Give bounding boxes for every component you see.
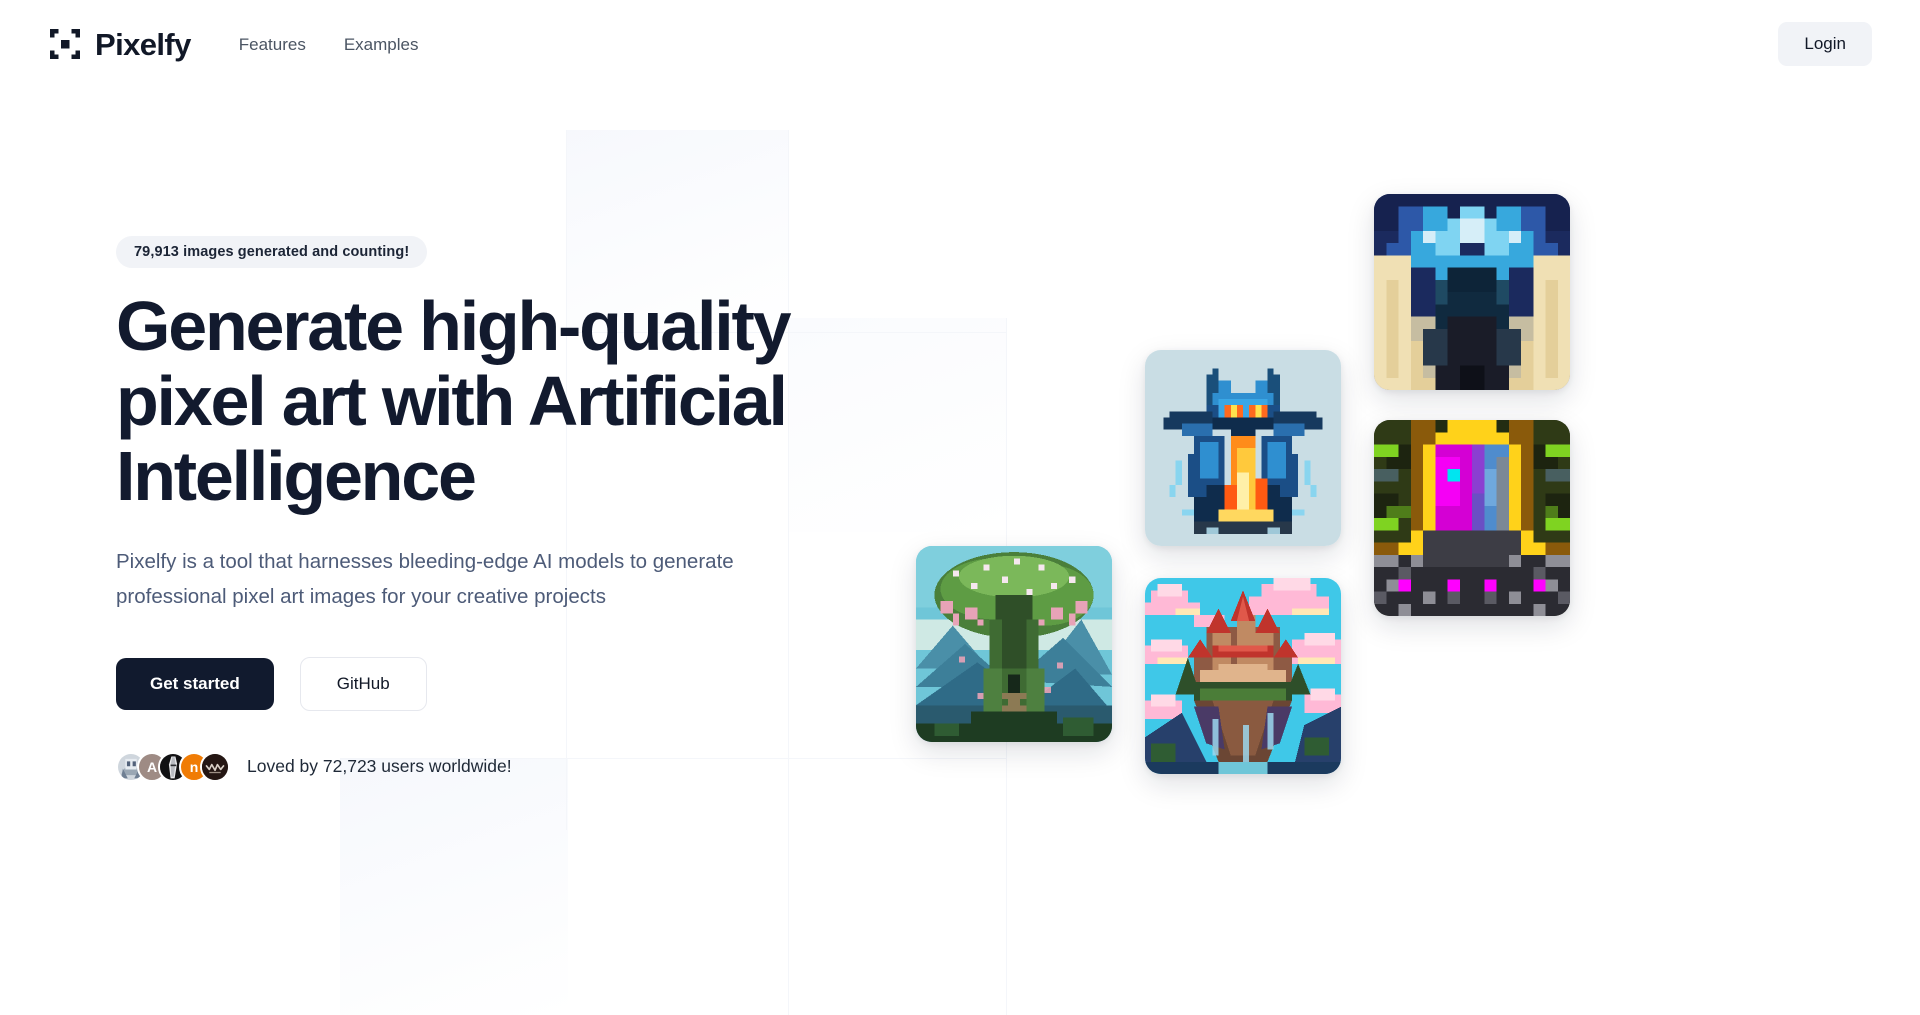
- primary-nav: Features Examples: [239, 36, 419, 53]
- art-card-dragon[interactable]: [1145, 350, 1341, 546]
- art-card-tree[interactable]: [916, 546, 1112, 742]
- avatar-letter-n-label: n: [190, 759, 199, 775]
- cta-row: Get started GitHub: [116, 657, 916, 711]
- hero-copy: 79,913 images generated and counting! Ge…: [116, 236, 916, 782]
- art-card-portal[interactable]: [1374, 420, 1570, 616]
- get-started-button[interactable]: Get started: [116, 658, 274, 710]
- pixel-frame-icon: [48, 27, 82, 61]
- login-button[interactable]: Login: [1778, 22, 1872, 66]
- brand-logo-link[interactable]: Pixelfy: [48, 27, 191, 61]
- avatar-letter-a-label: A: [147, 759, 157, 775]
- avatar-dark-logo: [200, 752, 230, 782]
- hero-subtitle: Pixelfy is a tool that harnesses bleedin…: [116, 544, 776, 615]
- art-card-castle[interactable]: [1145, 578, 1341, 774]
- site-header: Pixelfy Features Examples Login: [0, 0, 1920, 88]
- social-proof-text: Loved by 72,723 users worldwide!: [247, 758, 512, 776]
- avatar-stack: A n: [116, 752, 221, 782]
- nav-item-examples[interactable]: Examples: [344, 36, 419, 53]
- brand-name: Pixelfy: [95, 29, 191, 60]
- page-title: Generate high-quality pixel art with Art…: [116, 289, 806, 514]
- background-block: [340, 758, 568, 1015]
- social-proof: A n: [116, 752, 916, 782]
- nav-item-features[interactable]: Features: [239, 36, 306, 53]
- art-card-rune[interactable]: [1374, 194, 1570, 390]
- github-button[interactable]: GitHub: [300, 657, 427, 711]
- stat-badge: 79,913 images generated and counting!: [116, 236, 427, 268]
